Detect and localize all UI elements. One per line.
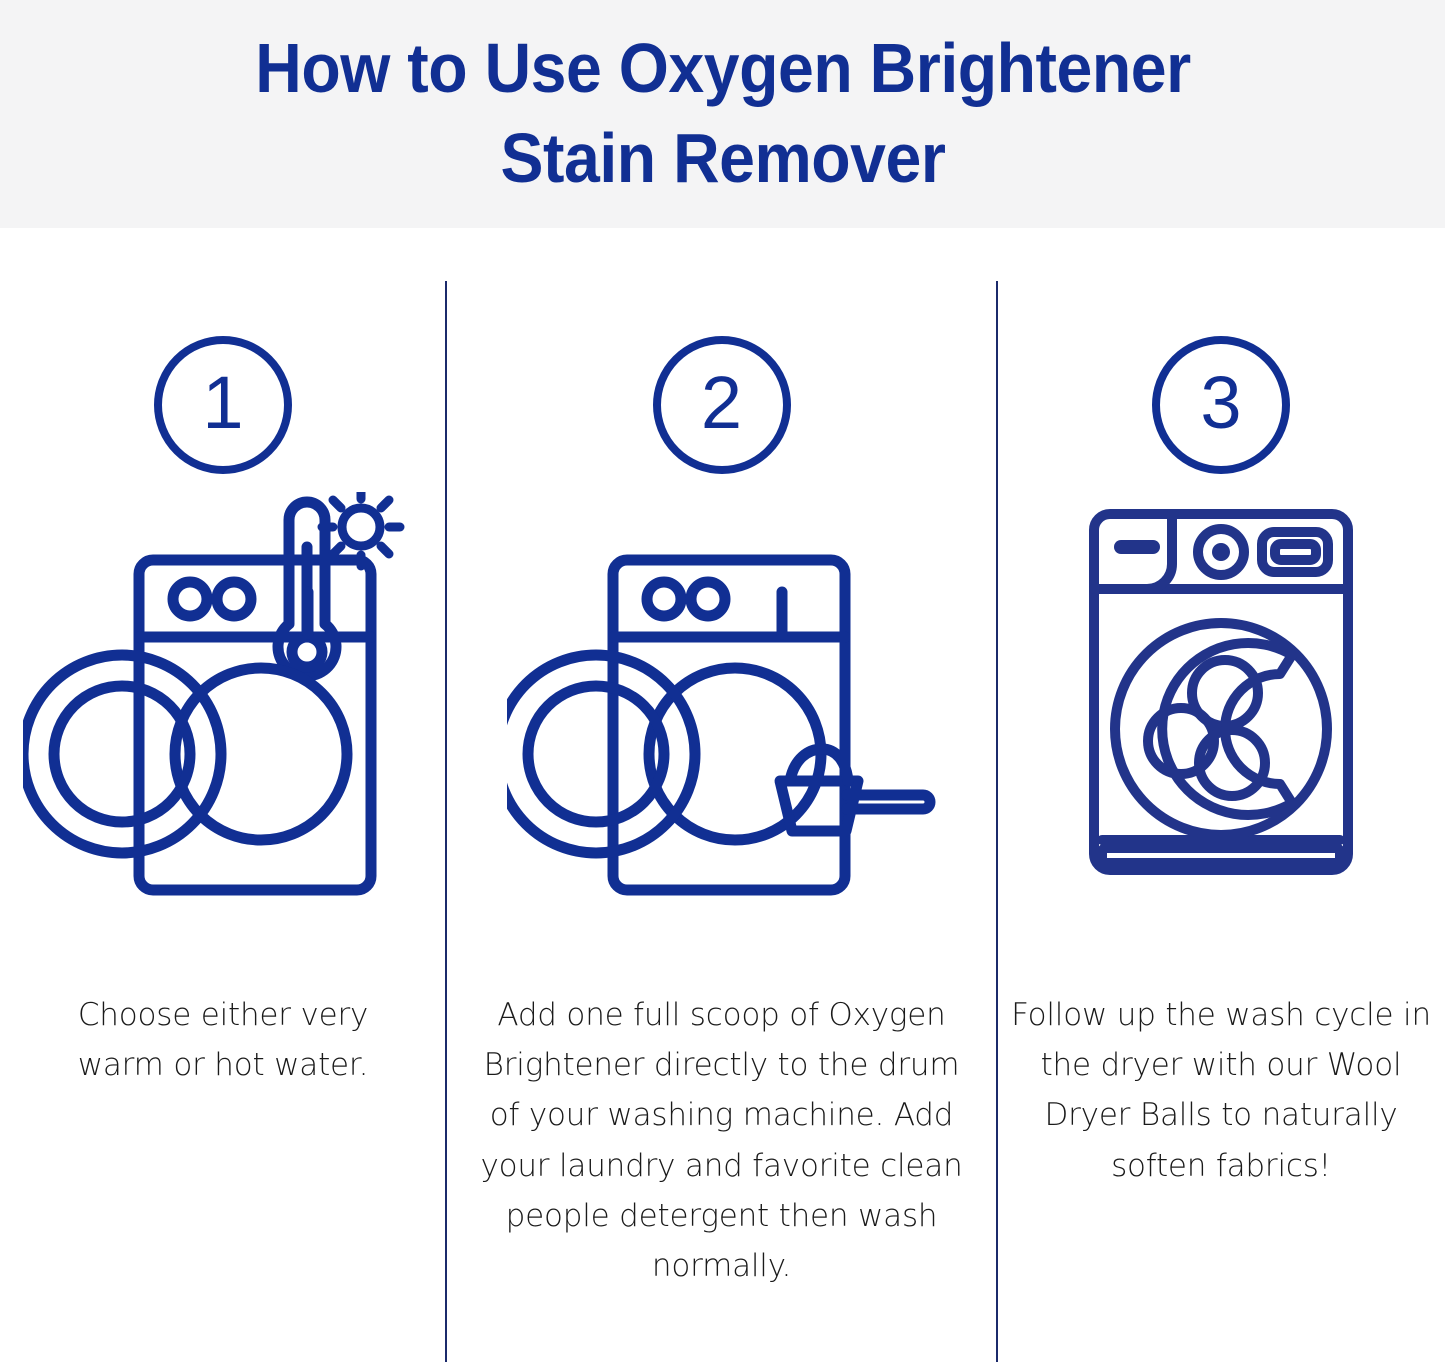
- step-illustration-1: [23, 492, 423, 912]
- step-caption-1: Choose either very warm or hot water.: [58, 990, 388, 1090]
- step-illustration-2: [507, 492, 937, 912]
- step-number-label-1: 1: [202, 366, 243, 440]
- step-number-label-2: 2: [701, 366, 742, 440]
- step-column-1: 1: [0, 228, 446, 1368]
- page-title-line-1: How to Use Oxygen Brightener: [207, 24, 1237, 114]
- step-illustration-3: [1076, 492, 1366, 912]
- page-title: How to Use Oxygen Brightener Stain Remov…: [207, 24, 1237, 203]
- detergent-scoop-icon: [780, 749, 930, 831]
- step-number-label-3: 3: [1200, 366, 1241, 440]
- dryer-icon: [1094, 514, 1348, 870]
- step-number-badge-2: 2: [653, 336, 791, 474]
- step-column-3: 3: [997, 228, 1445, 1368]
- infographic-page: How to Use Oxygen Brightener Stain Remov…: [0, 0, 1445, 1368]
- page-title-line-2: Stain Remover: [207, 114, 1237, 204]
- step-column-2: 2: [446, 228, 997, 1368]
- open-door-icon: [507, 655, 695, 853]
- step-caption-3: Follow up the wash cycle in the dryer wi…: [1011, 990, 1431, 1191]
- step-caption-2: Add one full scoop of Oxygen Brightener …: [472, 990, 972, 1291]
- header-band: How to Use Oxygen Brightener Stain Remov…: [0, 0, 1445, 228]
- step-number-badge-3: 3: [1152, 336, 1290, 474]
- open-door-icon: [23, 655, 221, 853]
- step-number-badge-1: 1: [154, 336, 292, 474]
- steps-container: 1: [0, 228, 1445, 1368]
